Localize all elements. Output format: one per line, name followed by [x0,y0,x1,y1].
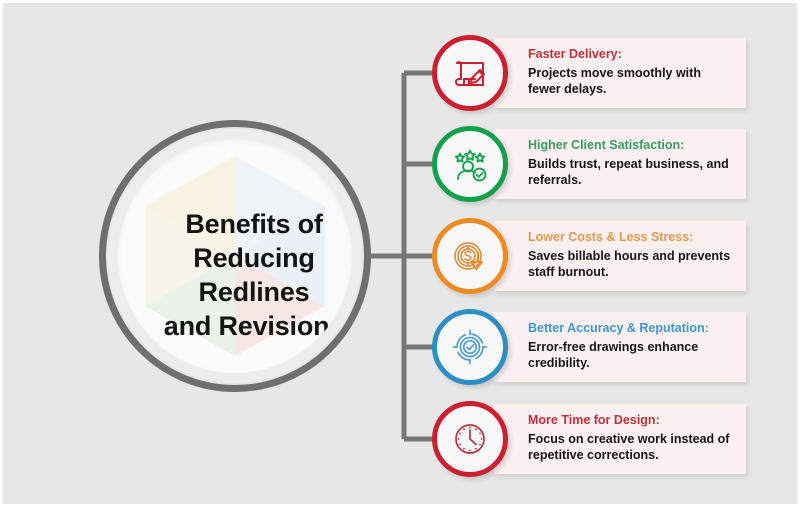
clock-icon [432,401,508,477]
branch-heading: Higher Client Satisfaction: [528,138,734,154]
blueprint-pencil-icon [432,35,508,111]
branch-item-faster-delivery[interactable]: Faster Delivery: Projects move smoothly … [432,35,752,111]
branch-heading: More Time for Design: [528,413,734,429]
branch-item-more-time-for-design[interactable]: More Time for Design: Focus on creative … [432,401,752,477]
branch-body: Builds trust, repeat business, and refer… [528,156,734,189]
branch-card: Faster Delivery: Projects move smoothly … [494,38,746,108]
branch-body: Projects move smoothly with fewer delays… [528,65,734,98]
target-check-icon [432,309,508,385]
branch-card: Better Accuracy & Reputation: Error-free… [494,312,746,382]
person-stars-check-icon [432,126,508,202]
branch-item-lower-costs-less-stress[interactable]: Lower Costs & Less Stress: Saves billabl… [432,218,752,294]
branch-heading: Lower Costs & Less Stress: [528,230,734,246]
dollar-coin-down-arrow-icon [432,218,508,294]
branch-item-higher-client-satisfaction[interactable]: Higher Client Satisfaction: Builds trust… [432,126,752,202]
center-ring-outer [99,120,371,392]
branch-card: More Time for Design: Focus on creative … [494,404,746,474]
branch-item-better-accuracy-reputation[interactable]: Better Accuracy & Reputation: Error-free… [432,309,752,385]
branch-body: Saves billable hours and prevents staff … [528,248,734,281]
branch-heading: Faster Delivery: [528,47,734,63]
branch-heading: Better Accuracy & Reputation: [528,321,734,337]
infographic-canvas: Benefits of Reducing Redlines and Revisi… [0,0,800,507]
branch-card: Lower Costs & Less Stress: Saves billabl… [494,221,746,291]
branch-body: Error-free drawings enhance credibility. [528,339,734,372]
branch-card: Higher Client Satisfaction: Builds trust… [494,129,746,199]
center-node: Benefits of Reducing Redlines and Revisi… [99,120,371,392]
branch-body: Focus on creative work instead of repeti… [528,431,734,464]
